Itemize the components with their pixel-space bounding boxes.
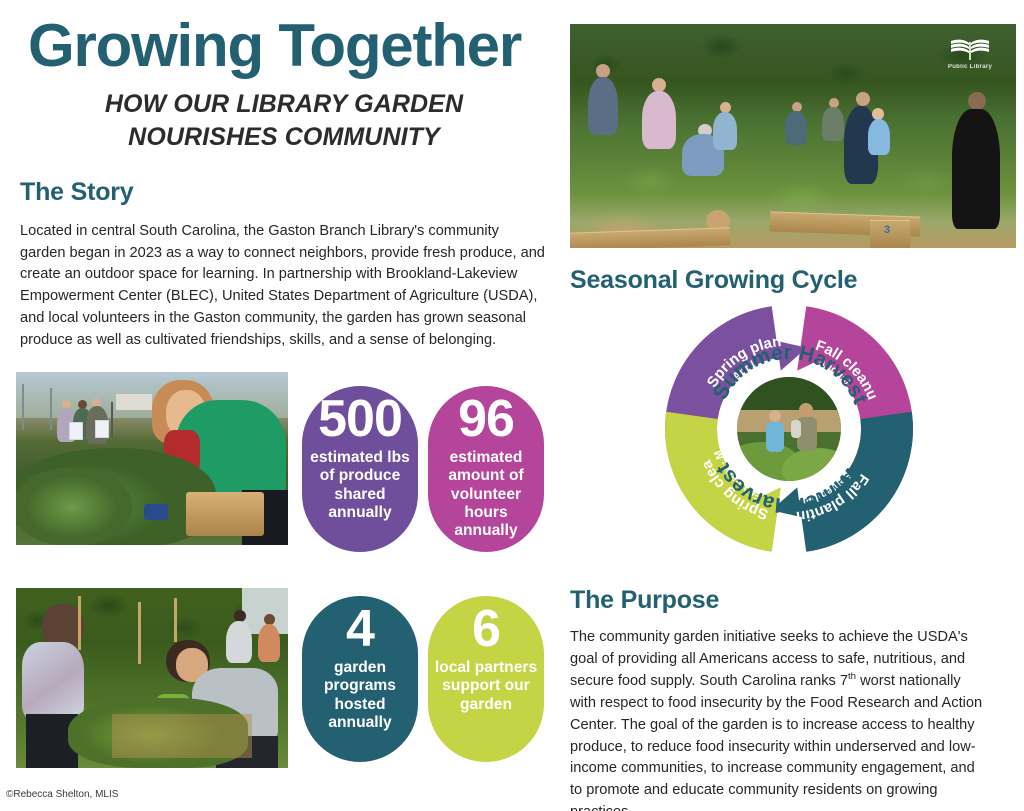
raised-bed-plank [186,492,264,536]
purpose-heading: The Purpose [570,586,719,615]
collard-leaf [16,468,132,545]
person-body [713,112,737,150]
tripod-leg [111,402,113,438]
stat-pill-partners: 6 local partners support our garden [428,596,544,762]
stat-number: 500 [318,392,402,447]
stat-number: 4 [346,602,374,657]
purpose-ordinal-suffix: th [848,671,856,682]
stat-label: garden programs hosted annually [302,659,418,732]
tent-canopy [116,394,152,410]
stat-number: 6 [472,602,500,657]
page-title: Growing Together [28,16,548,76]
photo-volunteer-harvest-collards [16,372,288,545]
stat-label: estimated lbs of produce shared annually [302,449,418,522]
stat-pill-programs: 4 garden programs hosted annually [302,596,418,762]
stat-pill-volunteer-hours: 96 estimated amount of volunteer hours a… [428,386,544,552]
library-logo: Public Library [938,38,1002,80]
story-heading: The Story [20,178,134,207]
person-floral-top [22,642,84,720]
pole [22,384,24,430]
infographic-page: Growing Together HOW OUR LIBRARY GARDEN … [0,0,1024,811]
seasonal-cycle-diagram: Spring planting April Fall cleanup Augus… [658,298,920,560]
person-head [652,78,666,92]
stat-label: estimated amount of volunteer hours annu… [428,449,544,540]
copyright-credit: ©Rebecca Shelton, MLIS [6,789,118,800]
page-subtitle: HOW OUR LIBRARY GARDEN NOURISHES COMMUNI… [28,88,540,154]
person-body [822,107,844,141]
raised-bed-plank [112,714,252,758]
person-head [596,64,610,78]
person-head [968,92,986,110]
open-book-icon [950,38,990,62]
story-body: Located in central South Carolina, the G… [20,221,548,351]
pole [50,388,52,430]
stat-label: local partners support our garden [428,659,544,714]
library-logo-text: Public Library [948,64,992,70]
tote-bag [95,420,109,438]
garden-stake [138,602,141,664]
garden-stake [78,596,81,650]
person-head [856,92,870,106]
stat-pill-produce: 500 estimated lbs of produce shared annu… [302,386,418,552]
purpose-body: The community garden initiative seeks to… [570,627,990,811]
tote-bag [69,422,83,440]
person-body [952,109,1000,229]
purpose-text-part2: worst nationally with respect to food in… [570,673,982,811]
photo-volunteers-picking-cucumbers [16,588,288,768]
garden-stake [174,598,177,642]
person-body [785,111,807,145]
person-body [642,91,676,149]
stat-number: 96 [458,392,514,447]
person-body [588,77,618,135]
bed-number-label: 3 [884,224,890,236]
photo-community-garden-tour: 3 Public Library [570,24,1016,248]
child-body [868,119,890,155]
garden-tool [144,504,168,520]
person-body [226,621,252,663]
person-body [258,624,280,662]
cycle-heading: Seasonal Growing Cycle [570,266,857,295]
